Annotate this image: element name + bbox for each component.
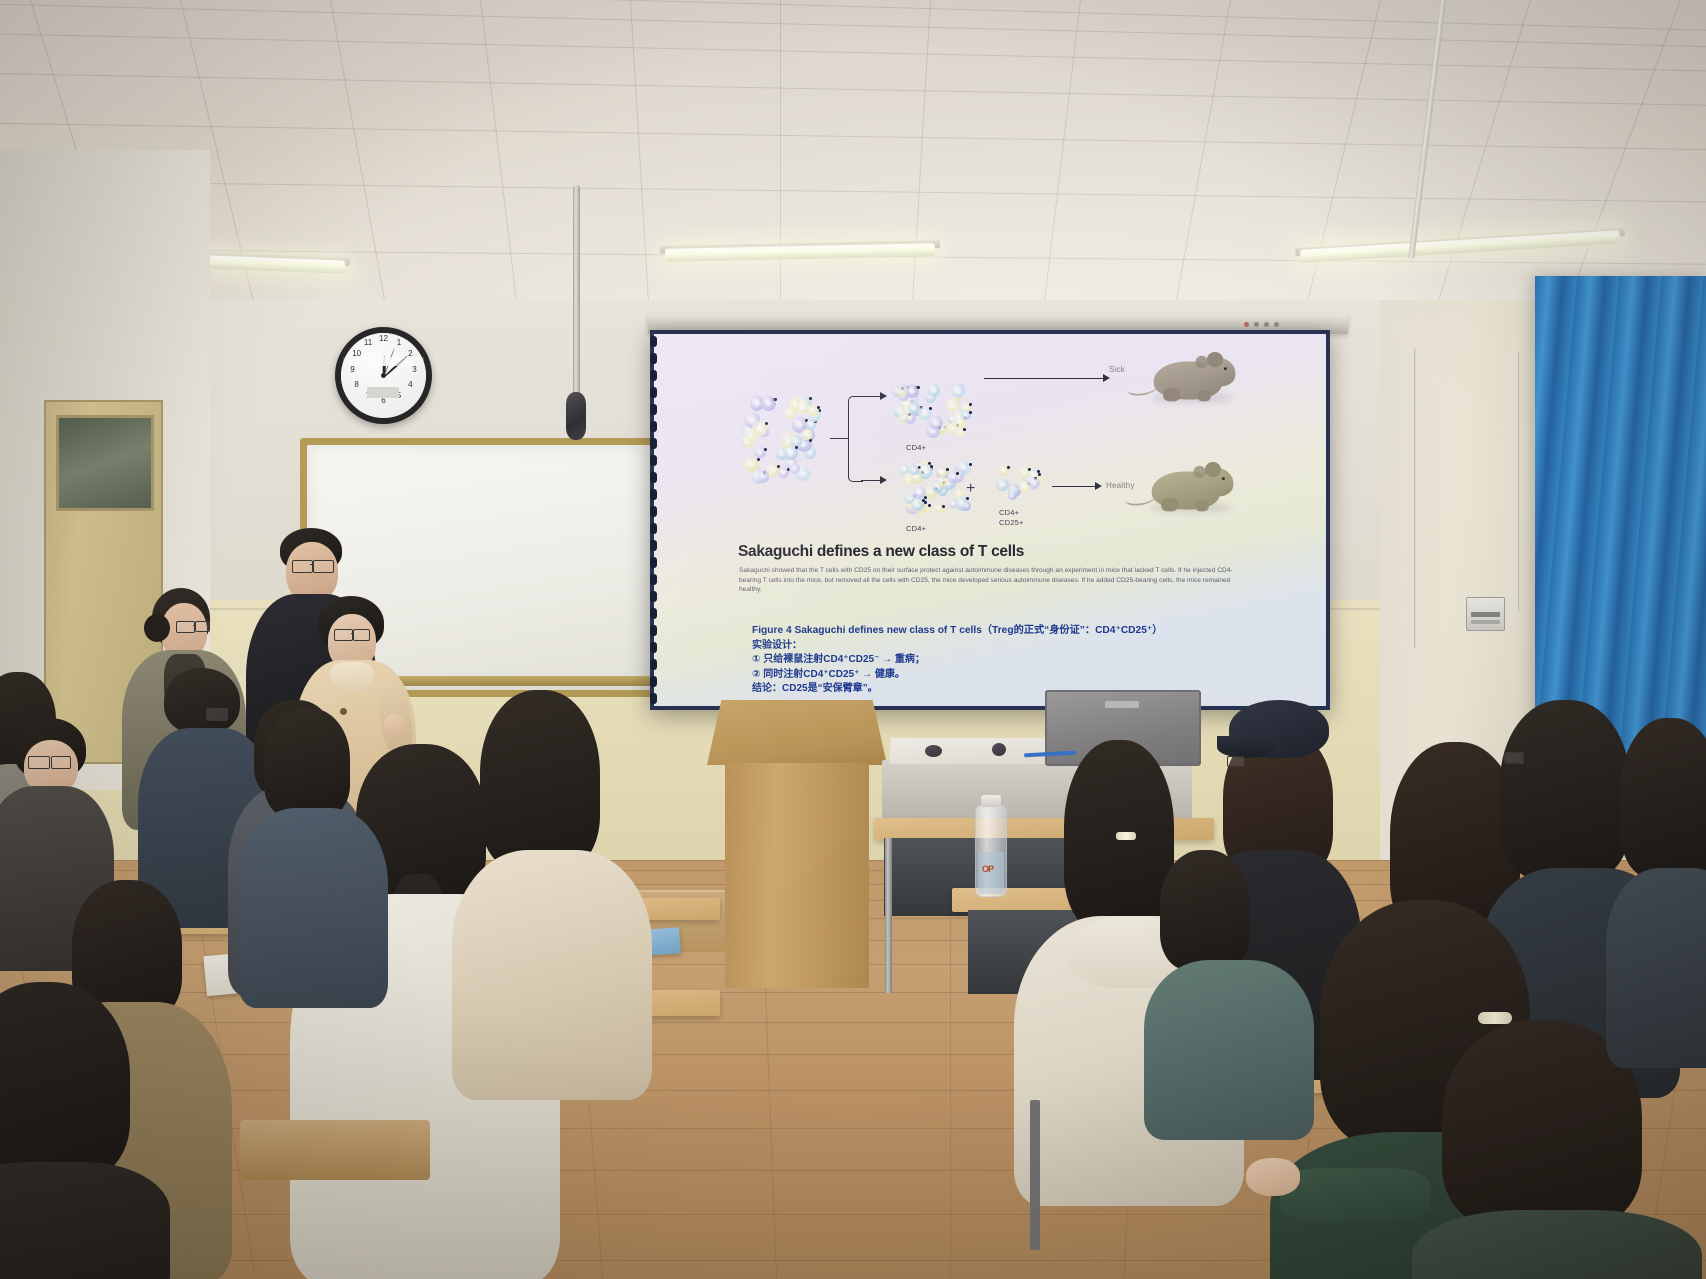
cell-surface-marker <box>928 504 931 507</box>
door-window <box>56 415 154 511</box>
cell-surface-marker <box>969 463 972 466</box>
split-stem <box>830 438 848 439</box>
t-cell <box>757 470 770 483</box>
label-outcome-sick: Sick <box>1109 365 1125 374</box>
ceiling-tile-row <box>0 33 1706 74</box>
computer-mouse[interactable] <box>925 745 942 757</box>
glasses-icon <box>334 629 353 641</box>
cell-surface-marker <box>765 422 768 425</box>
ceiling-tile-col <box>1299 0 1381 335</box>
torso-knit-sweater <box>452 850 652 1100</box>
hair <box>264 708 350 818</box>
mouse-leg-rear <box>1161 498 1178 511</box>
outcome-arrow-top-line <box>984 378 1104 379</box>
screen-perforation <box>650 370 657 381</box>
cell-surface-marker <box>917 386 920 389</box>
cell-surface-marker <box>969 411 972 414</box>
mouse-eye <box>1224 367 1227 370</box>
torso <box>0 1162 170 1279</box>
aux-led-icon <box>1274 322 1279 327</box>
clock-numeral: 3 <box>409 365 421 375</box>
lectern-podium[interactable] <box>707 700 887 985</box>
branch-arrow-top-line <box>861 396 881 397</box>
label-cluster-top: CD4+ <box>906 443 926 452</box>
t-cell-cluster <box>738 394 824 484</box>
clock-glare <box>343 357 424 366</box>
hand-holding-pointer <box>384 714 406 738</box>
ceiling-tile-row <box>0 2 1706 48</box>
cell-surface-marker <box>946 468 949 471</box>
slide-chinese-line-5: 结论：CD25是“安保臂章”。 <box>752 682 1326 697</box>
glasses-icon <box>292 560 313 573</box>
mouse-leg-front <box>1197 390 1210 401</box>
chair-frame-right <box>1030 1100 1040 1250</box>
screen-perforation <box>650 438 657 449</box>
ceiling-tile-col <box>1169 0 1231 340</box>
ceiling-tile-col <box>480 0 522 340</box>
t-cell-cluster <box>892 378 974 440</box>
split-bracket <box>848 396 863 482</box>
cap-brim <box>1217 736 1275 758</box>
hair <box>1500 700 1630 880</box>
branch-arrow-bottom-head <box>880 476 887 484</box>
wall-control-panel[interactable] <box>1466 597 1505 631</box>
slide-body-text: Sakaguchi showed that the T cells with C… <box>739 566 1239 595</box>
ceiling-tile-col <box>910 0 931 340</box>
floor-plank-seam <box>950 860 951 1279</box>
screen-perforation <box>650 642 657 653</box>
bottle-brand-label: OP <box>982 864 993 874</box>
water-bottle-clear[interactable]: OP <box>975 805 1007 897</box>
wall-clock: 121234567891011 <box>335 327 432 424</box>
ceiling-tile-row <box>0 122 1706 151</box>
screen-perforation <box>650 676 657 687</box>
hair <box>164 668 240 734</box>
power-led-icon <box>1244 322 1249 327</box>
glasses-icon <box>176 621 195 633</box>
window-curtain[interactable] <box>1535 276 1706 756</box>
label-added-cd25: CD25+ <box>999 518 1024 527</box>
label-added-cd4: CD4+ <box>999 508 1019 517</box>
screen-perforation <box>650 625 657 636</box>
mouse-tail <box>1127 377 1159 396</box>
microphone-icon <box>566 392 586 440</box>
label-outcome-healthy: Healthy <box>1106 481 1135 490</box>
screen-perforation <box>650 421 657 432</box>
clock-numeral: 4 <box>404 380 416 390</box>
glasses-icon-right <box>313 560 334 573</box>
glasses-icon-right <box>51 756 71 769</box>
screen-perforation <box>650 557 657 568</box>
t-cell <box>937 476 947 486</box>
cell-surface-marker <box>757 458 760 461</box>
chair-back-center <box>240 1120 430 1180</box>
branch-arrow-bottom-line <box>861 480 881 481</box>
signal-led-icon <box>1254 322 1259 327</box>
projector-indicator-lights <box>1244 321 1304 327</box>
glasses-bridge <box>193 625 196 626</box>
screen-perforation <box>650 455 657 466</box>
t-cell <box>744 429 757 442</box>
clock-numeral: 1 <box>393 338 405 348</box>
clock-numeral: 11 <box>362 338 374 348</box>
teacher-desk-leg <box>885 838 892 993</box>
slide-heading: Sakaguchi defines a new class of T cells <box>738 543 1024 561</box>
coat-collar <box>330 662 374 692</box>
screen-perforation <box>650 540 657 551</box>
control-panel-switch-row[interactable] <box>1471 612 1500 617</box>
screen-pull-cord-right[interactable] <box>1518 352 1520 612</box>
ceiling <box>0 0 1706 340</box>
t-cell <box>789 463 800 474</box>
t-cell <box>1029 478 1040 489</box>
label-cluster-bottom: CD4+ <box>906 524 926 533</box>
cell-surface-marker <box>809 439 812 442</box>
mouse-ear <box>1207 352 1223 367</box>
cell-surface-marker <box>1007 466 1010 469</box>
t-cell <box>899 464 910 475</box>
outcome-arrow-bottom-line <box>1052 486 1096 487</box>
mouse-eye <box>1222 477 1225 480</box>
bottle-cap-clear <box>981 795 1001 807</box>
t-cell <box>927 384 940 397</box>
coat-button-1 <box>340 708 347 715</box>
screen-pull-cord-left[interactable] <box>1414 348 1416 648</box>
t-cell <box>996 478 1009 491</box>
podium-body <box>725 763 869 988</box>
screen-perforation <box>650 693 657 704</box>
t-cell-cluster <box>996 462 1044 502</box>
slide-chinese-line-1: Figure 4 Sakaguchi defines new class of … <box>752 624 1326 639</box>
torso-teal-shirt <box>1144 960 1314 1140</box>
mouse-leg-front <box>1195 500 1208 511</box>
glasses-bridge <box>351 633 354 634</box>
screen-perforation <box>650 591 657 602</box>
hair <box>1620 718 1706 878</box>
presentation-slide: CD4+ CD4+ CD4+ CD25+ Sick Healthy + Saka… <box>654 334 1326 706</box>
torso <box>1412 1210 1702 1279</box>
screen-perforation <box>650 336 657 347</box>
ceiling-tile-row <box>0 180 1706 203</box>
mouse-ear-far <box>1196 356 1208 368</box>
outcome-arrow-top-head <box>1103 374 1110 382</box>
screen-perforation <box>650 523 657 534</box>
t-cell <box>801 429 812 440</box>
cell-surface-marker <box>963 428 966 431</box>
glasses-icon <box>28 756 50 769</box>
ceiling-tile-row <box>0 0 1706 33</box>
clock-center-pin <box>381 373 386 378</box>
ceiling-tile-col <box>330 0 392 340</box>
screen-perforation <box>650 404 657 415</box>
presenter-remote[interactable] <box>992 743 1006 756</box>
glasses-icon-right <box>195 621 210 632</box>
glasses-icon <box>1504 752 1524 764</box>
glasses-icon-right <box>353 629 370 641</box>
torso <box>238 808 388 1008</box>
ceiling-microphone-pole <box>573 185 580 400</box>
control-panel-display-row <box>1471 620 1500 624</box>
ceiling-tile-row <box>0 72 1706 107</box>
glasses-icon <box>206 708 228 721</box>
cell-surface-marker <box>930 465 933 468</box>
cell-surface-marker <box>817 406 820 409</box>
screen-perforation <box>650 387 657 398</box>
cell-surface-marker <box>969 403 972 406</box>
screen-perforation <box>650 659 657 670</box>
standby-led-icon <box>1264 322 1269 327</box>
slide-chinese-line-3: ① 只给裸鼠注射CD4⁺CD25⁻ → 重病； <box>752 653 1326 668</box>
hair-clip-pearl <box>1478 1012 1512 1024</box>
screen-perforation <box>650 353 657 364</box>
projection-screen: CD4+ CD4+ CD4+ CD25+ Sick Healthy + Saka… <box>650 330 1330 710</box>
hair <box>1160 850 1250 970</box>
hair-clip <box>1116 832 1136 840</box>
slide-chinese-line-2: 实验设计： <box>752 639 1326 654</box>
t-cell <box>1008 491 1017 500</box>
ceiling-tile-col <box>1429 0 1531 330</box>
screen-perforation <box>650 506 657 517</box>
mouse-ear-far <box>1194 466 1206 478</box>
ceiling-tile-col <box>1560 0 1681 324</box>
slide-chinese-line-4: ② 同时注射CD4⁺CD25⁺ → 健康。 <box>752 668 1326 683</box>
glasses-bridge <box>310 564 314 565</box>
clock-date-window <box>367 387 399 398</box>
label-plus-sign: + <box>966 480 976 498</box>
slide-chinese-block: Figure 4 Sakaguchi defines new class of … <box>752 624 1326 697</box>
ceiling-tile-col <box>780 0 781 340</box>
cell-surface-marker <box>809 397 812 400</box>
classroom-scene: 121234567891011 CD4+ CD4+ <box>0 0 1706 1279</box>
torso <box>1606 868 1706 1068</box>
hair <box>480 690 600 870</box>
screen-perforation <box>650 472 657 483</box>
clock-numeral: 12 <box>378 334 390 344</box>
screen-perforation <box>650 489 657 500</box>
t-cell <box>962 501 972 511</box>
screen-perforation <box>650 608 657 619</box>
clock-numeral: 8 <box>351 380 363 390</box>
ceiling-tile-col <box>630 0 651 340</box>
t-cell <box>785 408 796 419</box>
hair-bun <box>144 614 170 642</box>
cell-surface-marker <box>942 505 945 508</box>
t-cell-cluster <box>892 460 974 522</box>
fluorescent-tube-right <box>1300 230 1620 263</box>
laptop-hinge-latch <box>1105 701 1139 708</box>
mouse-leg-rear <box>1163 388 1180 401</box>
hand <box>1246 1158 1300 1196</box>
cell-surface-marker <box>929 407 932 410</box>
screen-perforation <box>650 574 657 585</box>
branch-arrow-top-head <box>880 392 887 400</box>
glasses-icon <box>1227 756 1245 767</box>
clock-numeral: 9 <box>347 365 359 375</box>
cell-surface-marker <box>764 448 767 451</box>
arm-on-desk <box>1280 1168 1430 1222</box>
outcome-arrow-bottom-head <box>1095 482 1102 490</box>
podium-top-surface <box>707 700 887 765</box>
screen-edge-perforations <box>650 336 658 708</box>
mouse-ear <box>1205 462 1221 477</box>
cell-surface-marker <box>774 398 777 401</box>
ceiling-tile-col <box>1039 0 1081 340</box>
t-cell <box>905 413 915 423</box>
